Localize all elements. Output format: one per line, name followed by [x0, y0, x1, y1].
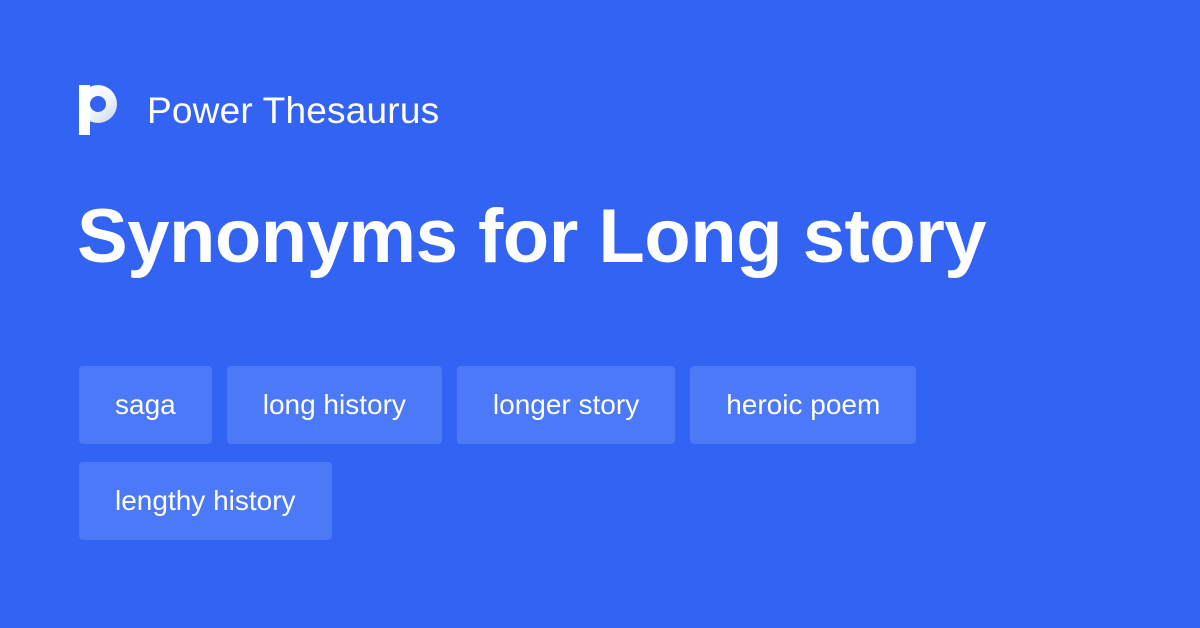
synonym-chip-list: saga long history longer story heroic po… [79, 366, 1129, 540]
share-card: Power Thesaurus Synonyms for Long story … [0, 0, 1200, 628]
brand-name: Power Thesaurus [147, 92, 439, 129]
synonym-chip[interactable]: saga [79, 366, 212, 444]
power-thesaurus-logo-icon [79, 85, 125, 135]
synonym-chip[interactable]: lengthy history [79, 462, 332, 540]
brand-lockup[interactable]: Power Thesaurus [79, 82, 439, 138]
synonym-chip[interactable]: longer story [457, 366, 675, 444]
synonym-chip[interactable]: long history [227, 366, 442, 444]
synonym-chip[interactable]: heroic poem [690, 366, 916, 444]
page-title: Synonyms for Long story [77, 196, 986, 278]
